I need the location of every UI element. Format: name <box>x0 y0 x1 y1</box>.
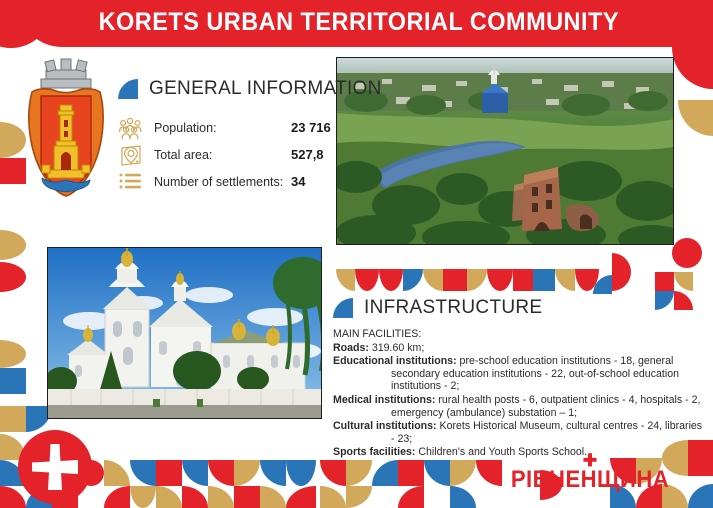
decor-quarter-blue <box>182 460 208 486</box>
general-information-section: GENERAL INFORMATION Population: 23 716 <box>118 76 343 195</box>
list-item: Number of settlements: 34 <box>118 168 343 195</box>
list-item-text: Korets Historical Museum, cultural centr… <box>391 420 702 445</box>
list-item-label: Number of settlements: <box>154 175 291 189</box>
list-item-text: rural health posts - 6, outpatient clini… <box>391 394 700 419</box>
list-item-label: Total area: <box>154 148 291 162</box>
decor-quarter-gold <box>234 460 260 486</box>
list-item-label: Population: <box>154 121 291 135</box>
decor-half-gold <box>0 340 26 368</box>
list-item: Medical institutions: rural health posts… <box>333 394 708 419</box>
decor-quarter-red <box>672 47 713 89</box>
decor-square-red <box>398 460 424 486</box>
decor-quarter-blue <box>372 460 398 486</box>
decor-quarter-gold <box>678 100 713 136</box>
decor-half-gold <box>130 486 156 508</box>
list-item-text: 319.60 km; <box>372 342 424 354</box>
decor-half-gold <box>0 122 26 158</box>
list-item-value: 34 <box>291 174 343 189</box>
decor-square-red <box>655 272 674 291</box>
decor-quarter-red <box>476 460 502 486</box>
decor-quarter-red <box>286 486 316 508</box>
logo-text: РІВНЕНЩИНА <box>507 466 673 494</box>
decor-quarter-red <box>398 486 424 508</box>
decor-square-red <box>0 158 26 184</box>
logo-cross-icon: ✚ <box>500 455 680 466</box>
decor-square-blue <box>533 269 555 291</box>
list-item: Total area: 527,8 <box>118 141 343 168</box>
infrastructure-section: INFRASTRUCTURE MAIN FACILITIES: Roads: 3… <box>333 295 708 460</box>
map-pin-icon <box>118 143 144 167</box>
decor-quarter-red <box>182 486 208 508</box>
infrastructure-header: INFRASTRUCTURE <box>333 295 708 321</box>
list-item-label: Cultural institutions: <box>333 420 437 432</box>
korets-coat-of-arms <box>24 58 108 198</box>
decor-circle-red <box>672 238 702 268</box>
list-item: Roads: 319.60 km; <box>333 342 708 355</box>
decor-quarter-gold <box>450 460 476 486</box>
list-item-label: Roads: <box>333 342 369 354</box>
decor-quarter-gold <box>423 269 443 291</box>
general-information-header: GENERAL INFORMATION <box>118 76 343 102</box>
list-item-value: 23 716 <box>291 120 343 135</box>
decor-quarter-blue <box>450 486 476 508</box>
infographic-page: KORETS URBAN TERRITORIAL COMMUNITY <box>0 0 713 508</box>
page-title: KORETS URBAN TERRITORIAL COMMUNITY <box>58 8 660 37</box>
decor-half-red <box>0 262 26 292</box>
decor-quarter-red <box>0 486 26 508</box>
decor-square-red <box>443 269 467 291</box>
decor-quarter-gold <box>208 486 234 508</box>
aerial-view-castle-ruins-photo <box>336 57 674 245</box>
decor-half-red <box>379 269 403 291</box>
decor-half-red <box>487 269 513 291</box>
decor-square-blue <box>0 368 26 394</box>
decor-quarter-gold <box>260 486 286 508</box>
decor-quarter-gold <box>336 269 355 291</box>
decor-quarter-blue <box>688 484 713 508</box>
decor-quarter-blue <box>424 460 450 486</box>
list-item: Cultural institutions: Korets Historical… <box>333 420 708 445</box>
decor-square-red <box>513 269 533 291</box>
decor-quarter-gold <box>320 486 346 508</box>
list-item-label: Educational institutions: <box>333 355 457 367</box>
cross-horizontal-bar-icon <box>32 460 78 474</box>
decor-quarter-red <box>208 460 234 486</box>
general-information-title: GENERAL INFORMATION <box>149 78 382 100</box>
rivne-region-cross-emblem <box>18 430 92 504</box>
decor-quarter-red <box>612 272 631 291</box>
list-item-value: 527,8 <box>291 147 343 162</box>
infrastructure-title: INFRASTRUCTURE <box>364 297 542 319</box>
rivnenshchyna-logo: ✚ РІВНЕНЩИНА <box>500 455 680 494</box>
decor-quarter-blue <box>403 269 423 291</box>
decor-quarter-gold <box>346 460 372 486</box>
decor-quarter-gold <box>674 272 693 291</box>
general-information-rows: Population: 23 716 Total area: 527,8 <box>118 114 343 195</box>
decor-half-blue <box>286 460 316 486</box>
infrastructure-subheading: MAIN FACILITIES: <box>333 328 708 341</box>
header-bar: KORETS URBAN TERRITORIAL COMMUNITY <box>18 0 713 47</box>
decor-square-gold <box>0 406 26 432</box>
decor-quarter-gold <box>467 269 487 291</box>
decor-half-gold <box>0 230 26 260</box>
decor-quarter-gold <box>346 486 372 508</box>
decor-square-red <box>234 486 260 508</box>
list-icon <box>118 170 144 194</box>
blue-quarter-marker-icon <box>333 298 353 318</box>
infrastructure-body: MAIN FACILITIES: Roads: 319.60 km; Educa… <box>333 328 708 459</box>
decor-quarter-blue <box>260 460 286 486</box>
decor-square-red <box>156 460 182 486</box>
decor-quarter-blue <box>130 460 156 486</box>
decor-quarter-gold <box>104 460 130 486</box>
people-group-icon <box>118 116 144 140</box>
decor-quarter-red <box>320 460 346 486</box>
blue-quarter-marker-icon <box>118 79 138 99</box>
decor-quarter-red <box>612 253 631 272</box>
list-item-label: Sports facilities: <box>333 446 415 458</box>
decor-quarter-gold <box>555 269 575 291</box>
korets-monastery-photo <box>47 247 322 419</box>
decor-quarter-gold <box>156 486 182 508</box>
list-item: Population: 23 716 <box>118 114 343 141</box>
decor-quarter-red <box>104 486 130 508</box>
list-item-label: Medical institutions: <box>333 394 435 406</box>
decor-half-red <box>355 269 379 291</box>
list-item: Educational institutions: pre-school edu… <box>333 355 708 393</box>
